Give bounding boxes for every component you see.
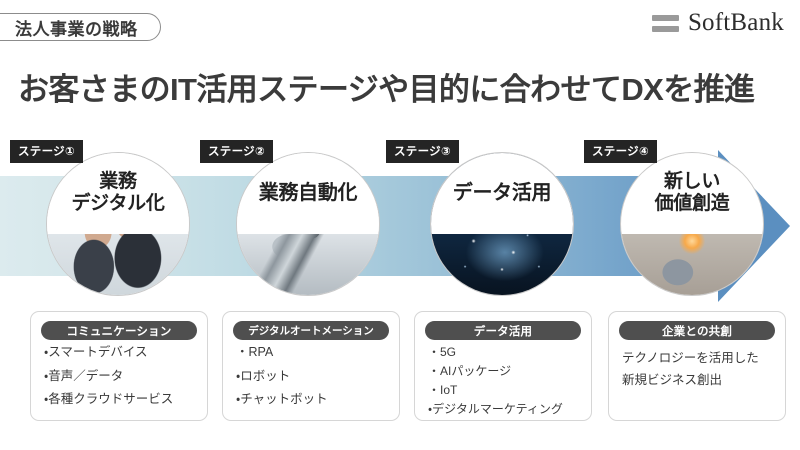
stage-4-title: 新しい 価値創造 (621, 153, 763, 234)
stage-3-circle: データ活用 (430, 152, 574, 296)
stage-1[interactable]: 業務 デジタル化 ステージ① (46, 152, 190, 296)
stage-1-badge: ステージ① (10, 140, 83, 163)
stage-2-circle: 業務自動化 (236, 152, 380, 296)
stage-2-badge: ステージ② (200, 140, 273, 163)
section-kicker-label: 法人事業の戦略 (15, 15, 138, 40)
detail-card-3-heading: データ活用 (474, 323, 533, 339)
slide-canvas: 法人事業の戦略 SoftBank お客さまのIT活用ステージや目的に合わせてDX… (0, 0, 800, 450)
stage-1-title-line-1: 業務 (99, 171, 136, 193)
detail-card-1-heading: コミュニケーション (66, 323, 171, 339)
list-item: ・デジタルマーケティング (428, 403, 583, 415)
list-item: ・各種クラウドサービス (44, 393, 199, 406)
softbank-wordmark: SoftBank (688, 10, 784, 35)
detail-card-3-header: データ活用 (425, 321, 581, 340)
detail-card-4-heading: 企業との共創 (662, 323, 732, 339)
stage-2[interactable]: 業務自動化 ステージ② (236, 152, 380, 296)
stage-3-title: データ活用 (431, 153, 573, 234)
stage-2-title: 業務自動化 (237, 153, 379, 234)
stage-1-circle: 業務 デジタル化 (46, 152, 190, 296)
detail-card-4-line-1: テクノロジーを活用した (622, 352, 777, 365)
section-kicker-pill: 法人事業の戦略 (0, 13, 161, 41)
softbank-equal-mark-icon (652, 15, 679, 32)
list-item: ・ロボット (236, 370, 391, 383)
slide-headline: お客さまのIT活用ステージや目的に合わせてDXを推進 (18, 64, 788, 109)
stage-1-title-line-2: デジタル化 (71, 193, 164, 215)
list-item: ・AIパッケージ (428, 365, 583, 377)
detail-card-2-body: ・RPA ・ロボット ・チャットボット (236, 346, 391, 417)
stage-3-badge: ステージ③ (386, 140, 459, 163)
detail-card-2-header: デジタルオートメーション (233, 321, 389, 340)
list-item: ・RPA (236, 346, 391, 359)
stage-4-badge: ステージ④ (584, 140, 657, 163)
detail-card-4: 企業との共創 テクノロジーを活用した 新規ビジネス創出 (608, 311, 786, 421)
list-item: ・5G (428, 346, 583, 358)
detail-card-2: デジタルオートメーション ・RPA ・ロボット ・チャットボット (222, 311, 400, 421)
list-item: ・チャットボット (236, 393, 391, 406)
list-item: ・IoT (428, 384, 583, 396)
stage-4-circle: 新しい 価値創造 (620, 152, 764, 296)
detail-card-1-body: ・スマートデバイス ・音声／データ ・各種クラウドサービス (44, 346, 199, 417)
stage-3-title-line-1: データ活用 (453, 182, 552, 206)
stage-4-title-line-2: 価値創造 (655, 193, 730, 215)
detail-card-4-line-2: 新規ビジネス創出 (622, 374, 777, 387)
stage-4[interactable]: 新しい 価値創造 ステージ④ (620, 152, 764, 296)
detail-card-3-body: ・5G ・AIパッケージ ・IoT ・デジタルマーケティング (428, 346, 583, 422)
list-item: ・音声／データ (44, 370, 199, 383)
detail-card-3: データ活用 ・5G ・AIパッケージ ・IoT ・デジタルマーケティング (414, 311, 592, 421)
softbank-logo: SoftBank (652, 10, 784, 35)
stage-1-title: 業務 デジタル化 (47, 153, 189, 234)
detail-card-4-header: 企業との共創 (619, 321, 775, 340)
stage-4-title-line-1: 新しい (664, 171, 720, 193)
stage-2-title-line-1: 業務自動化 (259, 182, 358, 206)
detail-card-4-body: テクノロジーを活用した 新規ビジネス創出 (622, 352, 777, 395)
detail-card-1-header: コミュニケーション (41, 321, 197, 340)
detail-card-2-heading: デジタルオートメーション (248, 323, 374, 338)
list-item: ・スマートデバイス (44, 346, 199, 359)
detail-card-1: コミュニケーション ・スマートデバイス ・音声／データ ・各種クラウドサービス (30, 311, 208, 421)
stage-3[interactable]: データ活用 ステージ③ (430, 152, 574, 296)
